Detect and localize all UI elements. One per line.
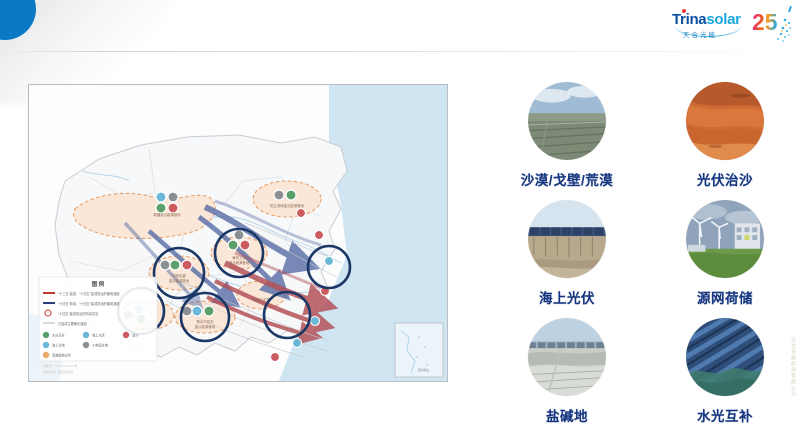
desert-gobi-photo: [528, 82, 606, 160]
svg-text:河西走廊: 河西走廊: [172, 273, 186, 278]
svg-text:火电国水电: 火电国水电: [92, 343, 109, 348]
svg-text:已建成主要输化通道: 已建成主要输化通道: [58, 321, 87, 326]
svg-text:“十四五”建成投运的特高压站: “十四五”建成投运的特高压站: [58, 311, 99, 316]
tile-sand-control[interactable]: 光伏治沙: [656, 82, 794, 198]
tile-label: 沙漠/戈壁/荒漠: [521, 169, 614, 189]
tile-label: 水光互补: [697, 405, 753, 425]
corner-blue-circle: [0, 0, 36, 40]
tile-label: 盐碱地: [546, 405, 588, 425]
svg-text:资料来源：国家能源局: 资料来源：国家能源局: [43, 369, 73, 374]
tile-offshore-pv[interactable]: 海上光伏: [498, 200, 636, 316]
svg-text:海上光电: 海上光电: [52, 343, 66, 348]
svg-text:重点能源基地: 重点能源基地: [169, 278, 190, 283]
offshore-pv-photo: [528, 200, 606, 278]
tile-label: 光伏治沙: [697, 169, 753, 189]
svg-text:海上光伏: 海上光伏: [92, 333, 106, 338]
tile-source-grid[interactable]: 源网荷储: [656, 200, 794, 316]
svg-text:重点能源基地: 重点能源基地: [195, 324, 216, 329]
trinasolar-wordmark: Trinasolar: [672, 12, 741, 27]
tile-desert[interactable]: 沙漠/戈壁/荒漠: [498, 82, 636, 198]
svg-text:“十三五”建成、“十四五”建成投运的输电通道: “十三五”建成、“十四五”建成投运的输电通道: [58, 291, 120, 296]
floating-pv-photo: [686, 318, 764, 396]
scenario-tile-grid: 沙漠/戈壁/荒漠 光伏治沙: [498, 82, 794, 434]
svg-text:新疆重点能源基地: 新疆重点能源基地: [153, 212, 181, 217]
header-divider: [0, 51, 800, 52]
logo-red-dot: [682, 9, 686, 13]
trinasolar-logo: Trinasolar 天合光能: [672, 8, 744, 42]
tile-saline-land[interactable]: 盐碱地: [498, 318, 636, 434]
svg-text:审图号：GS(2023)1234号: 审图号：GS(2023)1234号: [43, 363, 78, 368]
svg-text:萧盐碱地光伏: 萧盐碱地光伏: [52, 353, 72, 358]
tile-water-pv[interactable]: 水光互补: [656, 318, 794, 434]
svg-text:松辽流域重点能源基地: 松辽流域重点能源基地: [270, 203, 305, 208]
saline-land-photo: [528, 318, 606, 396]
svg-text:图 例: 图 例: [92, 280, 105, 288]
anniversary-dots-icon: [772, 8, 792, 42]
svg-text:冀北与蒙东: 冀北与蒙东: [197, 319, 215, 324]
svg-text:治沙: 治沙: [132, 333, 139, 338]
brand-lockup: Trinasolar 天合光能 25: [672, 6, 792, 44]
dune-photo: [686, 82, 764, 160]
svg-text:黄河上游: 黄河上游: [232, 255, 246, 260]
wordmark-chinese: 天合光能: [683, 29, 717, 39]
tile-label: 源网荷储: [697, 287, 753, 307]
wind-grid-storage-photo: [686, 200, 764, 278]
anniversary-badge: 25: [752, 6, 792, 44]
map-legend: 图 例 “十三五”建成、“十四五”建成投运的输电通道 “十四五”新增、“十四五”…: [39, 277, 157, 361]
map-inset-south-sea: 南海诸岛: [395, 323, 443, 377]
svg-text:南海诸岛: 南海诸岛: [418, 368, 429, 372]
svg-text:重点能源基地: 重点能源基地: [229, 260, 250, 265]
page-watermark: 天合光能股份有限公司: [790, 337, 797, 397]
map-canvas: 新疆重点能源基地 河西走廊重点能源基地 黄河上游重点能源基地 冀北与蒙东重点能源…: [29, 85, 447, 381]
china-scenario-map[interactable]: 新疆重点能源基地 河西走廊重点能源基地 黄河上游重点能源基地 冀北与蒙东重点能源…: [28, 84, 448, 382]
svg-text:水光互补: 水光互补: [52, 333, 66, 338]
svg-text:“十四五”新增、“十四五”建成投运的输电通道: “十四五”新增、“十四五”建成投运的输电通道: [58, 301, 120, 306]
tile-label: 海上光伏: [539, 287, 595, 307]
